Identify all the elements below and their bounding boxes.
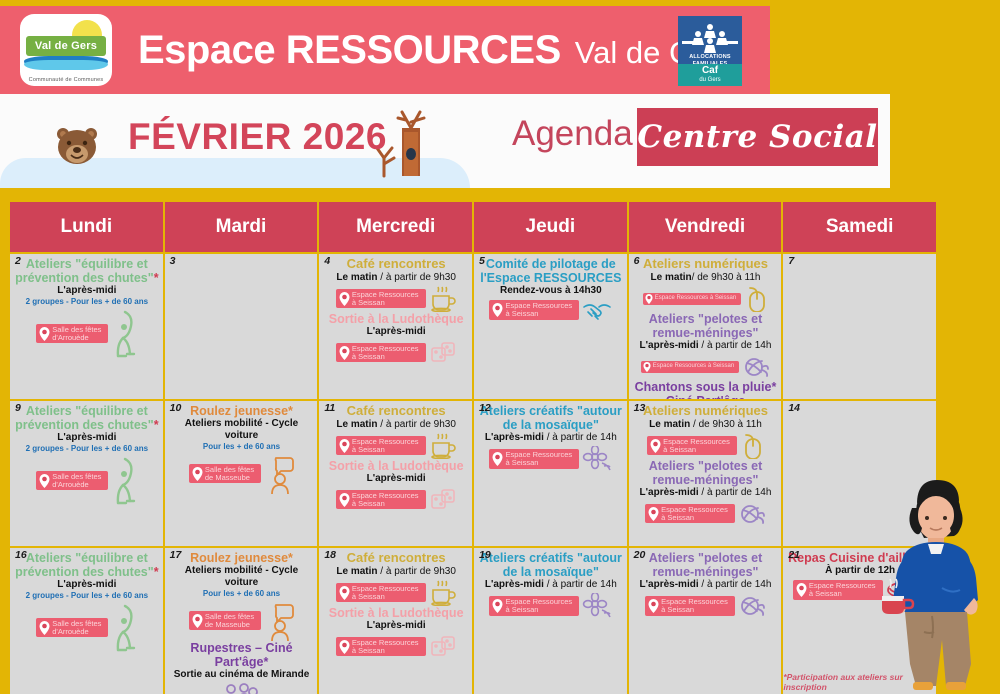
event-time-main: L'après-midi: [367, 326, 426, 337]
location-pin-icon: [643, 362, 651, 372]
location-badge[interactable]: Salle des fêtesd'Arrouède: [36, 324, 108, 344]
event-time: Le matin / à partir de 9h30: [323, 566, 469, 578]
event-time-main: L'après-midi: [57, 432, 116, 443]
location-pin-icon: [648, 507, 659, 521]
event-list: Café rencontresLe matin / à partir de 9h…: [323, 550, 469, 660]
event-footer: Espace Ressources à Seissan: [633, 286, 779, 312]
event-time: Sortie au cinéma de Mirande: [169, 669, 315, 681]
centre-social-badge: Centre Social: [637, 108, 878, 166]
location-badge-label: Espace Ressources à Seissan: [653, 363, 734, 369]
event-time: L'après-midi: [323, 473, 469, 485]
event-time: L'après-midi: [14, 432, 160, 444]
event-time-main: L'après-midi: [367, 473, 426, 484]
event-time: L'après-midi: [14, 579, 160, 591]
event-time: L'après-midi: [323, 326, 469, 338]
caf-name: Caf: [678, 65, 742, 76]
day-number: 21: [788, 550, 800, 561]
day-header-vendredi: Vendredi: [629, 202, 782, 252]
location-badge-label: Salle des fêtesde Masseube: [205, 466, 254, 482]
event-footer: Salle des fêtesde Masseube: [169, 454, 315, 494]
event-title: Sortie à la Ludothèque: [323, 459, 469, 473]
event-time: Ateliers mobilité - Cycle voiture: [169, 565, 315, 589]
event[interactable]: Ateliers "équilibre et prévention des ch…: [14, 551, 160, 653]
day-number: 12: [479, 403, 491, 414]
event-time-detail: / à partir de 14h: [699, 579, 772, 590]
flower-icon: [582, 593, 612, 619]
event-list: [787, 403, 933, 404]
month-title: FÉVRIER 2026: [128, 116, 387, 158]
event[interactable]: Café rencontresLe matin / à partir de 9h…: [323, 551, 469, 606]
stretching-person-icon: [111, 456, 137, 506]
caf-logo: ALLOCATIONSFAMILIALES Caf du Gers: [678, 16, 742, 86]
computer-mouse-icon: [740, 433, 764, 459]
event-title: Café rencontres: [323, 551, 469, 566]
event-time-main: Le matin: [649, 419, 690, 430]
event-time: L'après-midi / à partir de 14h: [633, 340, 779, 352]
event-list: Ateliers créatifs "autour de la mosaïque…: [478, 550, 624, 619]
location-badge-label: Espace Ressourcesà Seissan: [505, 598, 572, 614]
coffee-cup-icon: [429, 580, 457, 606]
bear-icon: [52, 124, 106, 166]
location-pin-icon: [339, 586, 350, 600]
event-title: Sortie à la Ludothèque: [323, 606, 469, 620]
location-badge[interactable]: Salle des fêtesde Masseube: [189, 611, 261, 631]
day-cell-5[interactable]: 5Comité de pilotage de l'Espace RESSOURC…: [474, 254, 627, 399]
caf-region: du Gers: [678, 76, 742, 84]
event-footer: Espace Ressourcesà Seissan: [633, 501, 779, 527]
person-speech-icon: [264, 601, 294, 641]
event[interactable]: Ateliers numériquesLe matin / de 9h30 à …: [633, 404, 779, 459]
day-number: 11: [324, 403, 335, 414]
location-badge[interactable]: Espace Ressources à Seissan: [641, 361, 739, 373]
location-pin-icon: [39, 474, 50, 488]
event-title: Chantons sous la pluie* Ciné Part'âge: [633, 380, 779, 399]
event-time-main: Rendez-vous à 14h30: [500, 285, 602, 296]
event-time-detail: / à partir de 14h: [544, 432, 617, 443]
event-title: Ateliers "pelotes et remue-méninges": [633, 459, 779, 487]
location-badge[interactable]: Espace Ressourcesà Seissan: [489, 300, 579, 320]
day-cell-13[interactable]: 13Ateliers numériquesLe matin / de 9h30 …: [629, 401, 782, 546]
location-badge[interactable]: Salle des fêtesd'Arrouède: [36, 618, 108, 638]
event-time-detail: / à partir de 14h: [699, 340, 772, 351]
event[interactable]: Café rencontresLe matin / à partir de 9h…: [323, 257, 469, 312]
event-time-main: Le matin: [651, 272, 692, 283]
event-footer: Espace Ressourcesà Seissan: [323, 286, 469, 312]
month-band: FÉVRIER 2026 Agenda Centre Social: [0, 94, 890, 188]
event-note: Pour les + de 60 ans: [169, 589, 315, 599]
location-badge-label: Espace Ressourcesà Seissan: [505, 302, 572, 318]
top-banner: Val de Gers Communauté de Communes Espac…: [0, 6, 770, 94]
day-number: 18: [324, 550, 336, 561]
event-time-main: L'après-midi: [367, 620, 426, 631]
day-cell-6[interactable]: 6Ateliers numériquesLe matin/ de 9h30 à …: [629, 254, 782, 399]
location-badge-label: Salle des fêtesd'Arrouède: [52, 620, 101, 636]
event[interactable]: Sortie à la LudothèqueL'après-midiEspace…: [323, 606, 469, 660]
location-pin-icon: [339, 439, 350, 453]
location-pin-icon: [339, 640, 350, 654]
event-list: [169, 256, 315, 257]
group-people-icon: [224, 683, 258, 694]
day-number: 5: [479, 256, 485, 267]
person-speech-icon: [264, 454, 294, 494]
computer-mouse-icon: [744, 286, 768, 312]
event-title: Ateliers numériques: [633, 404, 779, 419]
dice-icon: [429, 340, 457, 366]
event-time: L'après-midi / à partir de 14h: [633, 487, 779, 499]
event-time-detail: / de 9h30 à 11h: [692, 272, 761, 283]
location-badge[interactable]: Espace Ressourcesà Seissan: [336, 289, 426, 309]
location-pin-icon: [192, 614, 203, 628]
event-title: Ateliers "équilibre et prévention des ch…: [14, 257, 160, 285]
event-note: 2 groupes - Pour les + de 60 ans: [14, 591, 160, 601]
event-time-main: Ateliers mobilité - Cycle voiture: [185, 418, 298, 441]
event-time: L'après-midi / à partir de 14h: [478, 579, 624, 591]
event-note: 2 groupes - Pour les + de 60 ans: [14, 444, 160, 454]
event-footer: [169, 683, 315, 694]
event-time-main: L'après-midi: [485, 579, 544, 590]
day-number: 10: [170, 403, 182, 414]
caf-name-box: Caf du Gers: [678, 64, 742, 86]
event[interactable]: Ateliers créatifs "autour de la mosaïque…: [478, 551, 624, 619]
event[interactable]: Ateliers "équilibre et prévention des ch…: [14, 257, 160, 359]
handshake-icon: [582, 299, 612, 321]
event-note: Pour les + de 60 ans: [169, 442, 315, 452]
day-cell-18[interactable]: 18Café rencontresLe matin / à partir de …: [319, 548, 472, 694]
dice-icon: [429, 487, 457, 513]
event-list: Roulez jeunesse*Ateliers mobilité - Cycl…: [169, 550, 315, 694]
day-cell-19[interactable]: 19Ateliers créatifs "autour de la mosaïq…: [474, 548, 627, 694]
event[interactable]: Ateliers "équilibre et prévention des ch…: [14, 404, 160, 506]
stretching-person-icon: [111, 603, 137, 653]
event-list: Ateliers numériquesLe matin/ de 9h30 à 1…: [633, 256, 779, 399]
location-badge-label: Salle des fêtesd'Arrouède: [52, 326, 101, 342]
day-header-lundi: Lundi: [10, 202, 163, 252]
required-registration-star: *: [154, 271, 159, 285]
location-badge-label: Espace Ressourcesà Seissan: [809, 582, 876, 598]
day-number: 4: [324, 256, 330, 267]
event-time: Rendez-vous à 14h30: [478, 285, 624, 297]
event[interactable]: Ateliers numériquesLe matin/ de 9h30 à 1…: [633, 257, 779, 312]
location-badge-label: Salle des fêtesde Masseube: [205, 613, 254, 629]
event[interactable]: Roulez jeunesse*Ateliers mobilité - Cycl…: [169, 404, 315, 494]
day-cell-9[interactable]: 9Ateliers "équilibre et prévention des c…: [10, 401, 163, 546]
day-cell-11[interactable]: 11Café rencontresLe matin / à partir de …: [319, 401, 472, 546]
event-time: Le matin / à partir de 9h30: [323, 419, 469, 431]
event-list: Ateliers "pelotes et remue-méninges"L'ap…: [633, 550, 779, 619]
location-pin-icon: [339, 346, 350, 360]
day-cell-7[interactable]: 7: [783, 254, 936, 399]
event-title: Rupestres – Ciné Part'âge*: [169, 641, 315, 669]
agenda-label: Agenda: [512, 114, 633, 154]
event-title: Comité de pilotage de l'Espace RESSOURCE…: [478, 257, 624, 285]
day-number: 3: [170, 256, 176, 267]
location-pin-icon: [492, 599, 503, 613]
location-badge[interactable]: Salle des fêtesde Masseube: [189, 464, 261, 484]
location-pin-icon: [192, 467, 203, 481]
event-time: L'après-midi / à partir de 14h: [478, 432, 624, 444]
location-badge-label: Espace Ressourcesà Seissan: [352, 438, 419, 454]
event-list: Roulez jeunesse*Ateliers mobilité - Cycl…: [169, 403, 315, 494]
event-time-main: L'après-midi: [640, 487, 699, 498]
event-footer: Espace Ressourcesà Seissan: [323, 634, 469, 660]
event-footer: Espace Ressourcesà Seissan: [323, 580, 469, 606]
event-title: Ateliers numériques: [633, 257, 779, 272]
day-header-samedi: Samedi: [783, 202, 936, 252]
location-badge-label: Espace Ressourcesà Seissan: [352, 639, 419, 655]
event[interactable]: Café rencontresLe matin / à partir de 9h…: [323, 404, 469, 459]
location-badge[interactable]: Espace Ressourcesà Seissan: [336, 343, 426, 363]
coffee-cup-icon: [429, 286, 457, 312]
location-badge[interactable]: Espace Ressourcesà Seissan: [336, 637, 426, 657]
location-pin-icon: [339, 292, 350, 306]
location-badge[interactable]: Espace Ressourcesà Seissan: [489, 449, 579, 469]
event[interactable]: Roulez jeunesse*Ateliers mobilité - Cycl…: [169, 551, 315, 641]
day-cell-3[interactable]: 3: [165, 254, 318, 399]
event-time-main: L'après-midi: [57, 285, 116, 296]
event-list: Ateliers "équilibre et prévention des ch…: [14, 256, 160, 359]
banner-title-bold: Espace RESSOURCES: [138, 28, 561, 73]
location-pin-icon: [645, 294, 653, 304]
event-time-detail: / à partir de 9h30: [378, 566, 456, 577]
event-time: Le matin / à partir de 9h30: [323, 272, 469, 284]
day-number: 7: [788, 256, 794, 267]
event-time-main: Le matin: [336, 272, 377, 283]
location-badge[interactable]: Espace Ressourcesà Seissan: [336, 436, 426, 456]
event-footer: Espace Ressourcesà Seissan: [633, 593, 779, 619]
event[interactable]: Sortie à la LudothèqueL'après-midiEspace…: [323, 459, 469, 513]
yarn-ball-icon: [738, 593, 766, 619]
event-title: Sortie à la Ludothèque: [323, 312, 469, 326]
calendar-grid: LundiMardiMercrediJeudiVendrediSamedi2At…: [8, 200, 938, 686]
event-list: Café rencontresLe matin / à partir de 9h…: [323, 403, 469, 513]
event-time: Le matin/ de 9h30 à 11h: [633, 272, 779, 284]
val-de-gers-logo: Val de Gers Communauté de Communes: [20, 14, 112, 86]
event-time: L'après-midi / à partir de 14h: [633, 579, 779, 591]
event-time-main: L'après-midi: [57, 579, 116, 590]
event-title: Ateliers "équilibre et prévention des ch…: [14, 551, 160, 579]
event[interactable]: Ateliers créatifs "autour de la mosaïque…: [478, 404, 624, 472]
event-time-main: Le matin: [336, 419, 377, 430]
location-badge-label: Espace Ressources à Seissan: [655, 295, 736, 301]
event[interactable]: Ateliers "pelotes et remue-méninges"L'ap…: [633, 551, 779, 619]
location-badge-label: Espace Ressourcesà Seissan: [661, 506, 728, 522]
location-badge[interactable]: Espace Ressourcesà Seissan: [647, 436, 737, 456]
event-list: Ateliers "équilibre et prévention des ch…: [14, 403, 160, 506]
event-time-main: L'après-midi: [640, 579, 699, 590]
event-footer: Espace Ressourcesà Seissan: [633, 433, 779, 459]
day-number: 14: [788, 403, 800, 414]
event[interactable]: Ateliers "pelotes et remue-méninges"L'ap…: [633, 459, 779, 527]
event-title: Ateliers créatifs "autour de la mosaïque…: [478, 404, 624, 432]
event-time-main: L'après-midi: [485, 432, 544, 443]
event-time: Ateliers mobilité - Cycle voiture: [169, 418, 315, 442]
location-badge[interactable]: Espace Ressourcesà Seissan: [793, 580, 883, 600]
event-footer: Salle des fêtesd'Arrouède: [14, 603, 160, 653]
event-time-detail: / à partir de 9h30: [378, 419, 456, 430]
logo-title: Val de Gers: [26, 37, 106, 55]
day-cell-12[interactable]: 12Ateliers créatifs "autour de la mosaïq…: [474, 401, 627, 546]
event-time-detail: / à partir de 9h30: [378, 272, 456, 283]
location-badge-label: Espace Ressourcesà Seissan: [663, 438, 730, 454]
event-list: Café rencontresLe matin / à partir de 9h…: [323, 256, 469, 366]
location-badge[interactable]: Espace Ressourcesà Seissan: [336, 490, 426, 510]
location-badge-label: Salle des fêtesd'Arrouède: [52, 473, 101, 489]
location-pin-icon: [492, 452, 503, 466]
day-header-mardi: Mardi: [165, 202, 318, 252]
location-badge-label: Espace Ressourcesà Seissan: [505, 451, 572, 467]
location-badge-label: Espace Ressourcesà Seissan: [661, 598, 728, 614]
event-time-main: Ateliers mobilité - Cycle voiture: [185, 565, 298, 588]
event-title: Roulez jeunesse*: [169, 404, 315, 418]
location-badge-label: Espace Ressourcesà Seissan: [352, 585, 419, 601]
event-time-detail: / à partir de 14h: [699, 487, 772, 498]
day-number: 6: [634, 256, 640, 267]
day-cell-16[interactable]: 16Ateliers "équilibre et prévention des …: [10, 548, 163, 694]
logo-subtitle: Communauté de Communes: [20, 77, 112, 83]
day-cell-2[interactable]: 2Ateliers "équilibre et prévention des c…: [10, 254, 163, 399]
logo-wave-light: [24, 60, 108, 70]
event-footer: Salle des fêtesd'Arrouède: [14, 309, 160, 359]
day-cell-4[interactable]: 4Café rencontresLe matin / à partir de 9…: [319, 254, 472, 399]
day-number: 13: [634, 403, 646, 414]
location-pin-icon: [648, 599, 659, 613]
yarn-ball-icon: [738, 501, 766, 527]
banner-title: Espace RESSOURCES Val de Gers: [138, 28, 736, 73]
event-footer: Espace Ressources à Seissan: [633, 354, 779, 380]
coffee-cup-icon: [429, 433, 457, 459]
event-footer: Espace Ressourcesà Seissan: [478, 446, 624, 472]
location-pin-icon: [39, 327, 50, 341]
flower-icon: [582, 446, 612, 472]
location-badge[interactable]: Salle des fêtesd'Arrouède: [36, 471, 108, 491]
day-cell-20[interactable]: 20Ateliers "pelotes et remue-méninges"L'…: [629, 548, 782, 694]
event-title: Ateliers créatifs "autour de la mosaïque…: [478, 551, 624, 579]
event-footer: Espace Ressourcesà Seissan: [323, 340, 469, 366]
event-time-main: Sortie au cinéma de Mirande: [174, 669, 310, 680]
event-title: Ateliers "pelotes et remue-méninges": [633, 551, 779, 579]
dice-icon: [429, 634, 457, 660]
location-badge[interactable]: Espace Ressourcesà Seissan: [489, 596, 579, 616]
location-pin-icon: [796, 583, 807, 597]
day-header-mercredi: Mercredi: [319, 202, 472, 252]
event-time-main: Le matin: [336, 566, 377, 577]
event-footer: Salle des fêtesde Masseube: [169, 601, 315, 641]
event-footer: Espace Ressourcesà Seissan: [478, 593, 624, 619]
day-number: 19: [479, 550, 491, 561]
event[interactable]: Ateliers "pelotes et remue-méninges"L'ap…: [633, 312, 779, 380]
event-title: Roulez jeunesse*: [169, 551, 315, 565]
location-pin-icon: [650, 439, 661, 453]
event-time-detail: / de 9h30 à 11h: [690, 419, 762, 430]
location-badge-label: Espace Ressourcesà Seissan: [352, 291, 419, 307]
event-footer: Espace Ressourcesà Seissan: [323, 487, 469, 513]
day-cell-17[interactable]: 17Roulez jeunesse*Ateliers mobilité - Cy…: [165, 548, 318, 694]
location-badge[interactable]: Espace Ressourcesà Seissan: [645, 504, 735, 524]
event-title: Café rencontres: [323, 257, 469, 272]
event-note: 2 groupes - Pour les + de 60 ans: [14, 297, 160, 307]
event-time: Le matin / de 9h30 à 11h: [633, 419, 779, 431]
event-list: Ateliers créatifs "autour de la mosaïque…: [478, 403, 624, 472]
location-badge[interactable]: Espace Ressources à Seissan: [643, 293, 741, 305]
location-badge-label: Espace Ressourcesà Seissan: [352, 345, 419, 361]
event[interactable]: Rupestres – Ciné Part'âge*Sortie au ciné…: [169, 641, 315, 694]
location-pin-icon: [39, 621, 50, 635]
event-footer: Salle des fêtesd'Arrouède: [14, 456, 160, 506]
caf-family-icon: [678, 21, 742, 55]
event-footer: Espace Ressourcesà Seissan: [323, 433, 469, 459]
event-time: L'après-midi: [14, 285, 160, 297]
location-badge-label: Espace Ressourcesà Seissan: [352, 492, 419, 508]
day-number: 20: [634, 550, 646, 561]
stretching-person-icon: [111, 309, 137, 359]
day-cell-10[interactable]: 10Roulez jeunesse*Ateliers mobilité - Cy…: [165, 401, 318, 546]
event-title: Ateliers "pelotes et remue-méninges": [633, 312, 779, 340]
event-list: Ateliers numériquesLe matin / de 9h30 à …: [633, 403, 779, 527]
centre-social-label: Centre Social: [637, 119, 877, 155]
location-pin-icon: [339, 493, 350, 507]
required-registration-star: *: [154, 418, 159, 432]
required-registration-star: *: [154, 565, 159, 579]
day-number: 16: [15, 550, 27, 561]
yarn-ball-icon: [742, 354, 770, 380]
event-list: [787, 256, 933, 257]
event-footer: Espace Ressourcesà Seissan: [478, 299, 624, 321]
location-badge[interactable]: Espace Ressourcesà Seissan: [645, 596, 735, 616]
location-badge[interactable]: Espace Ressourcesà Seissan: [336, 583, 426, 603]
event-time: L'après-midi: [323, 620, 469, 632]
event-list: Ateliers "équilibre et prévention des ch…: [14, 550, 160, 653]
event-time-detail: / à partir de 14h: [544, 579, 617, 590]
day-number: 2: [15, 256, 21, 267]
day-number: 9: [15, 403, 21, 414]
event-title: Ateliers "équilibre et prévention des ch…: [14, 404, 160, 432]
woman-with-cup-illustration: [880, 464, 992, 692]
day-number: 17: [170, 550, 182, 561]
event-title: Café rencontres: [323, 404, 469, 419]
event[interactable]: Chantons sous la pluie* Ciné Part'âgeSor…: [633, 380, 779, 399]
event[interactable]: Sortie à la LudothèqueL'après-midiEspace…: [323, 312, 469, 366]
event[interactable]: Comité de pilotage de l'Espace RESSOURCE…: [478, 257, 624, 321]
event-time-main: L'après-midi: [640, 340, 699, 351]
location-pin-icon: [492, 303, 503, 317]
event-list: Comité de pilotage de l'Espace RESSOURCE…: [478, 256, 624, 321]
day-header-jeudi: Jeudi: [474, 202, 627, 252]
